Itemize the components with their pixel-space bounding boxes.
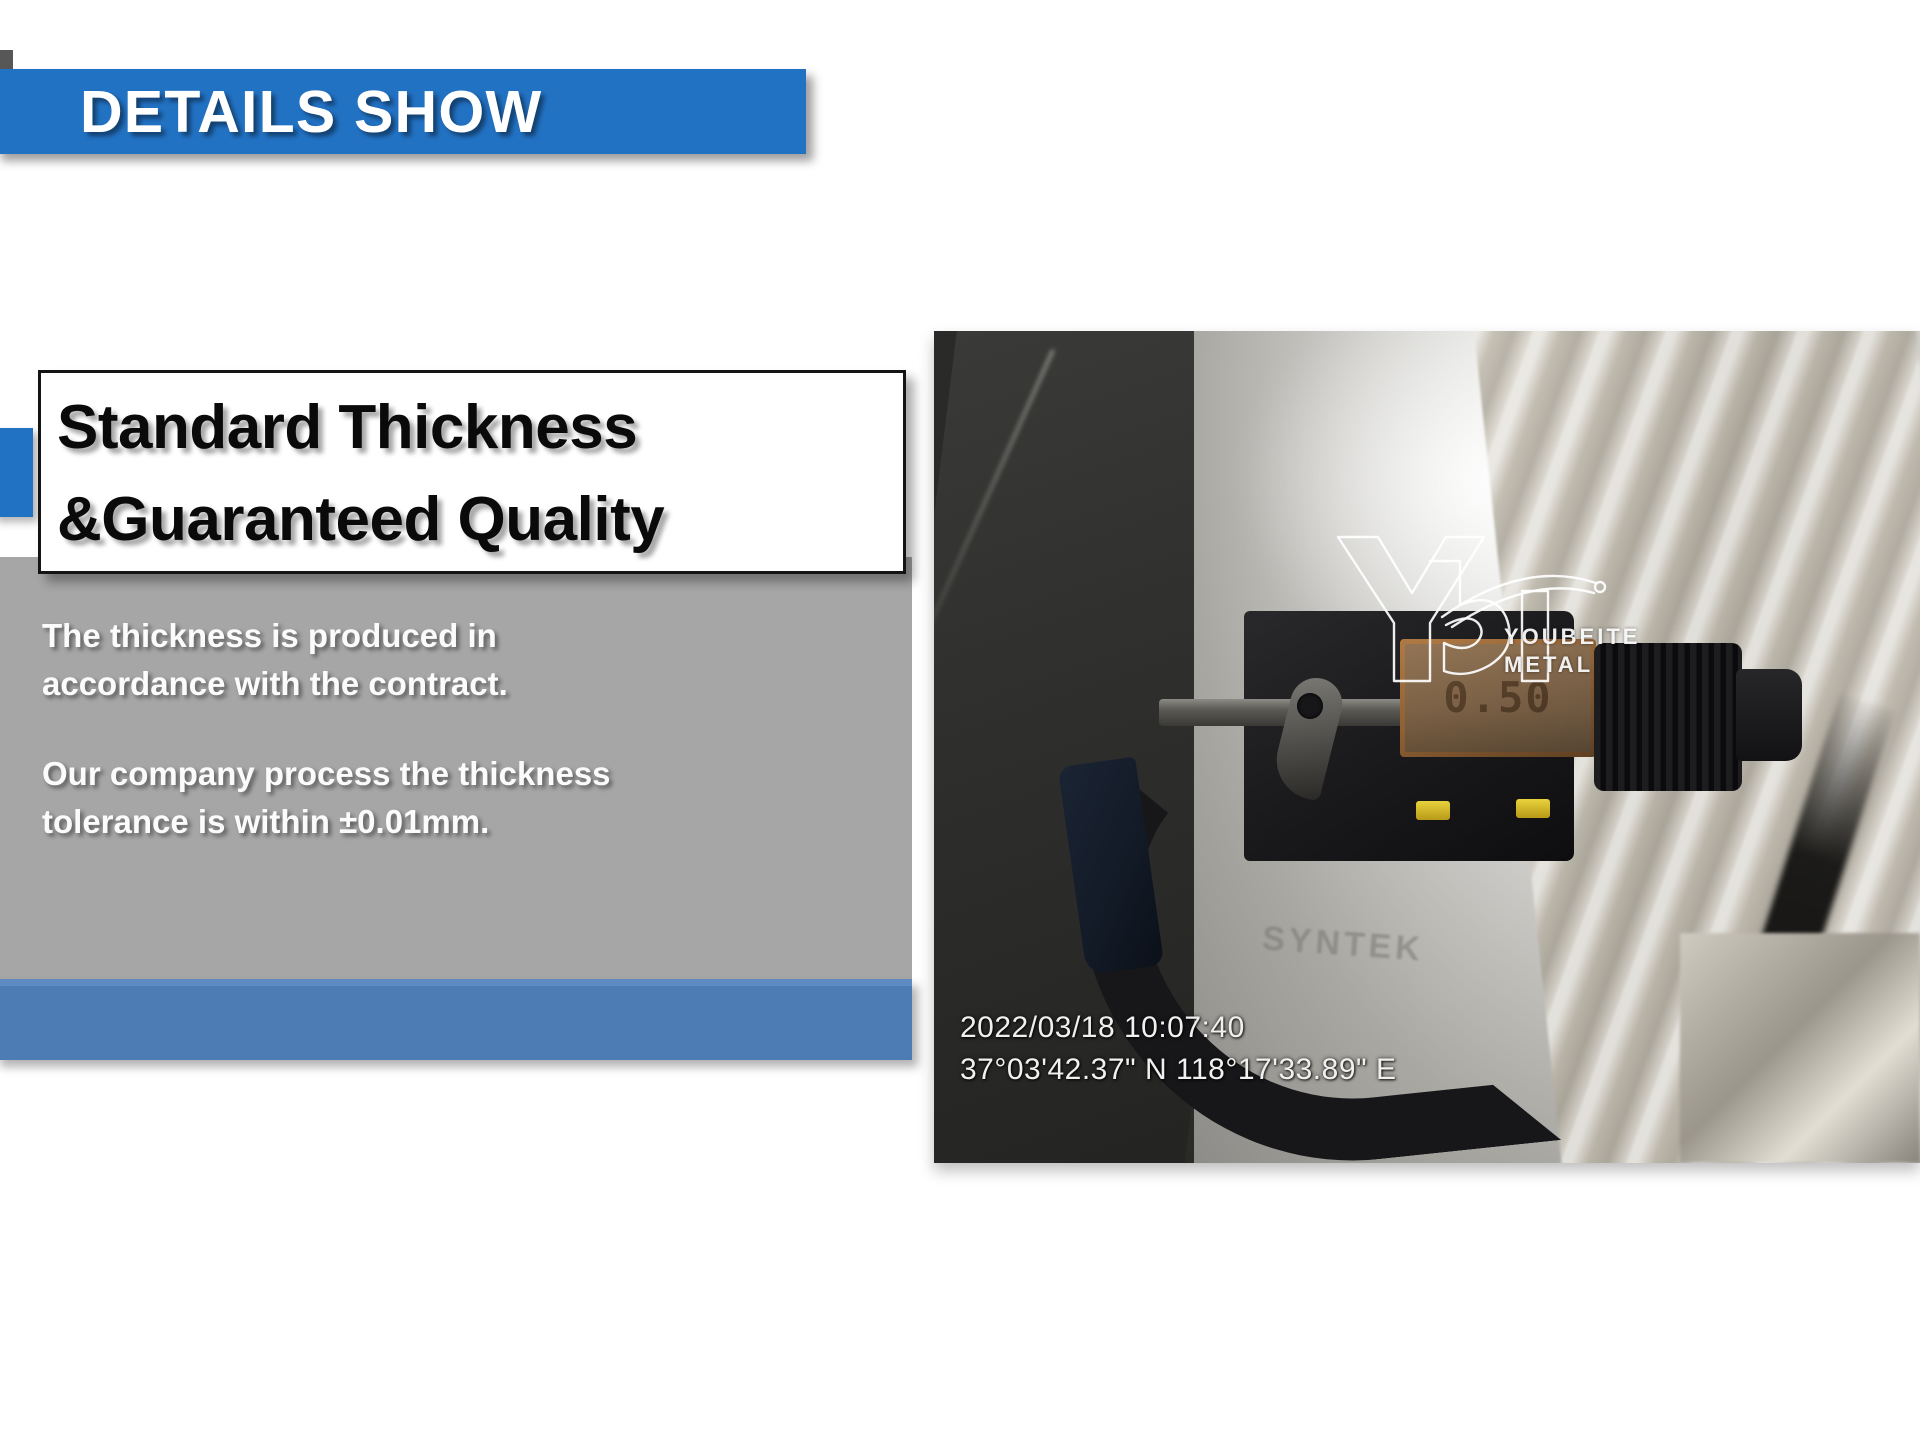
headline-line-2: &Guaranteed Quality	[57, 474, 903, 566]
micrometer-button-left	[1416, 801, 1450, 820]
micrometer-display-bezel: 0.50	[1400, 639, 1596, 757]
product-photo: 0.50 SYNTEK YOUBEITE METAL	[934, 331, 1920, 1163]
body-paragraph-2: Our company process the thickness tolera…	[42, 750, 882, 846]
micrometer-ratchet-stop	[1736, 669, 1802, 761]
body-paragraph-1: The thickness is produced in accordance …	[42, 612, 882, 708]
bottom-accent-bar-highlight	[0, 979, 912, 986]
headline-box: Standard Thickness &Guaranteed Quality	[38, 370, 906, 574]
headline-line-1: Standard Thickness	[57, 382, 903, 474]
micrometer-button-right	[1516, 799, 1550, 818]
micrometer-thimble	[1594, 643, 1742, 791]
left-accent-tab	[0, 428, 33, 517]
micrometer-lcd-reading: 0.50	[1405, 644, 1591, 752]
photo-timestamp: 2022/03/18 10:07:40	[960, 1007, 1397, 1049]
photo-geostamp: 2022/03/18 10:07:40 37°03'42.37" N 118°1…	[960, 1007, 1397, 1091]
photo-wall-crack	[934, 349, 1056, 693]
page-title: DETAILS SHOW	[80, 68, 820, 156]
micrometer-lock-hole	[1297, 693, 1323, 719]
body-copy: The thickness is produced in accordance …	[42, 612, 882, 846]
photo-coordinates: 37°03'42.37" N 118°17'33.89" E	[960, 1049, 1397, 1091]
bottom-accent-bar	[0, 979, 912, 1060]
